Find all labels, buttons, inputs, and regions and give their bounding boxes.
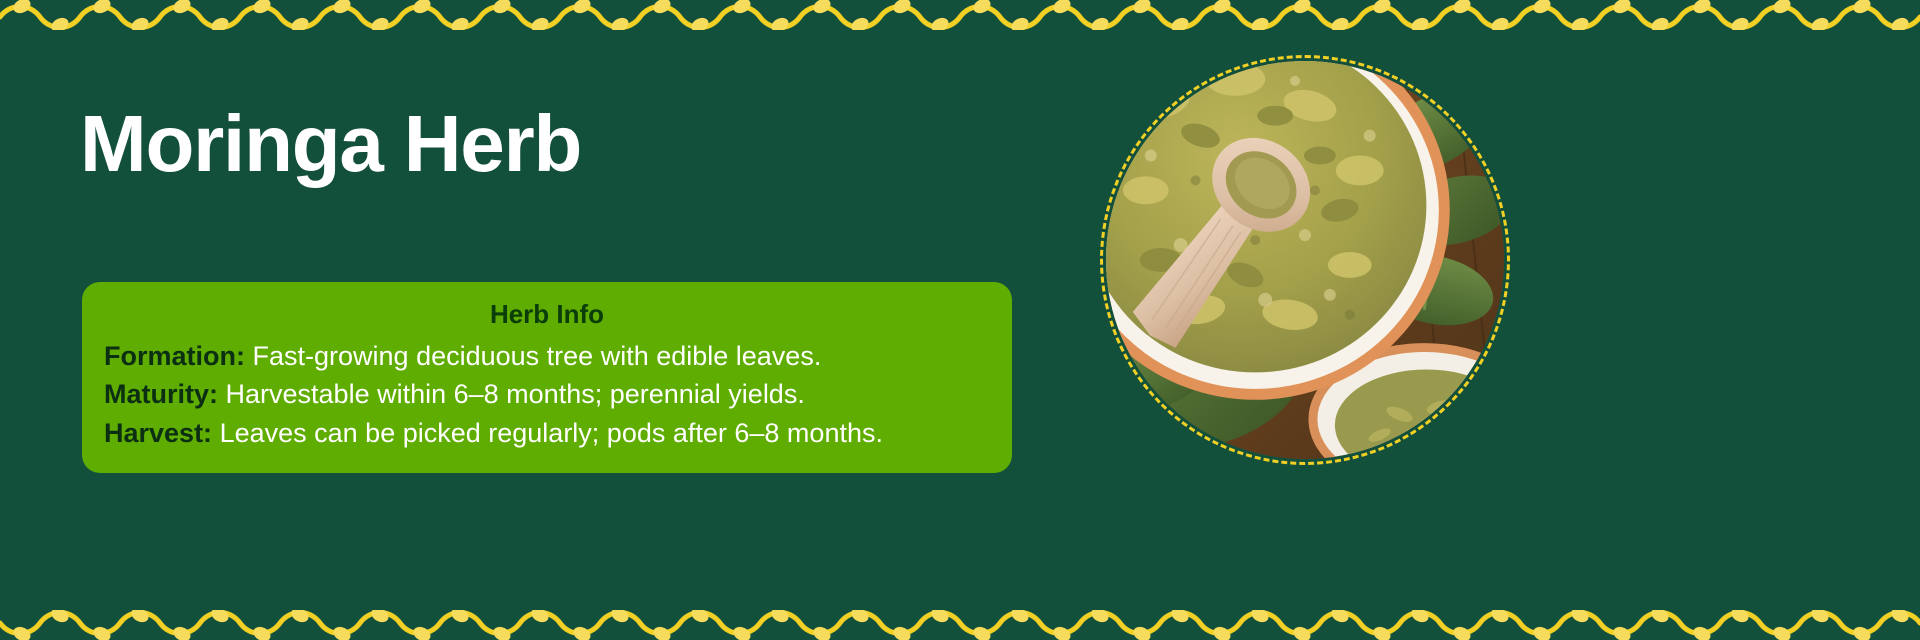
herb-photo [1106, 61, 1504, 459]
info-row-maturity-label: Maturity: [104, 379, 218, 409]
info-row-harvest-value: Leaves can be picked regularly; pods aft… [220, 418, 883, 448]
info-row-harvest-label: Harvest: [104, 418, 212, 448]
herb-photo-frame [1100, 55, 1510, 465]
info-row-maturity: Maturity: Harvestable within 6–8 months;… [104, 375, 990, 414]
bottom-vine-border [0, 610, 1920, 640]
banner: Moringa Herb Herb Info Formation: Fast-g… [0, 0, 1920, 640]
info-row-formation-label: Formation: [104, 341, 245, 371]
info-row-maturity-value: Harvestable within 6–8 months; perennial… [226, 379, 805, 409]
vine-repeat-group-bottom [0, 610, 1920, 640]
vine-repeat-group [0, 0, 1920, 30]
page-title: Moringa Herb [80, 104, 581, 184]
info-row-formation: Formation: Fast-growing deciduous tree w… [104, 337, 990, 376]
info-row-formation-value: Fast-growing deciduous tree with edible … [253, 341, 822, 371]
top-vine-border [0, 0, 1920, 30]
herb-info-heading: Herb Info [104, 298, 990, 331]
info-row-harvest: Harvest: Leaves can be picked regularly;… [104, 414, 990, 453]
herb-info-card: Herb Info Formation: Fast-growing decidu… [82, 282, 1012, 473]
